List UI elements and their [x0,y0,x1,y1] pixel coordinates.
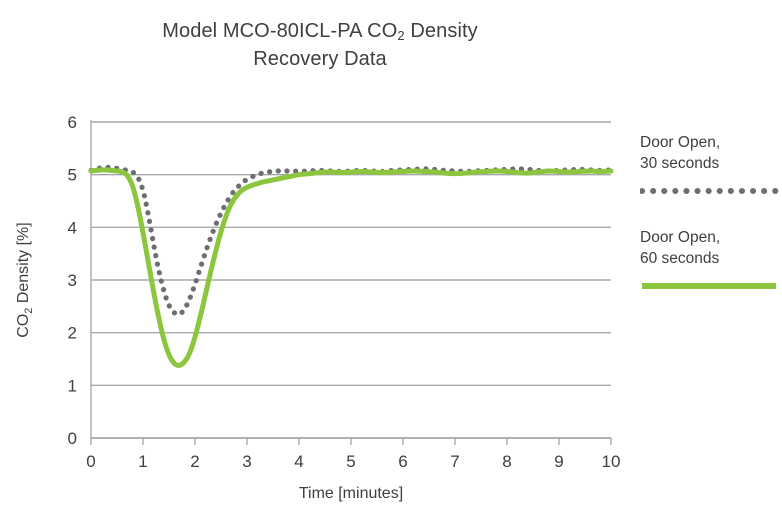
x-tick-label-7: 7 [450,452,459,471]
series-line-door-open-60 [91,170,611,366]
legend-label-door-open-60: Door Open, 60 seconds [640,227,782,269]
legend-swatch-solid [640,280,782,292]
y-tick-label-2: 2 [68,324,77,343]
series-line-door-open-30 [91,167,611,314]
x-axis-tick-labels: 012345678910 [86,452,620,471]
x-axis-title: Time [minutes] [299,485,403,502]
gridlines [91,122,611,438]
x-tick-label-2: 2 [190,452,199,471]
axis-titles: Time [minutes]CO2 Density [%] [15,222,403,502]
y-tick-label-3: 3 [68,271,77,290]
y-axis-tick-labels: 0123456 [68,113,77,448]
x-tick-label-0: 0 [86,452,95,471]
data-series [91,167,611,365]
legend-entry-door-open-30[interactable]: Door Open, 30 seconds [640,132,782,197]
x-tick-label-5: 5 [346,452,355,471]
x-tick-label-9: 9 [554,452,563,471]
legend: Door Open, 30 seconds Door Open, 60 seco… [640,132,782,322]
y-tick-label-4: 4 [68,218,77,237]
x-tick-label-6: 6 [398,452,407,471]
y-tick-label-6: 6 [68,113,77,132]
x-tick-label-1: 1 [138,452,147,471]
legend-swatch-dotted [640,185,782,197]
legend-label-line-2: 30 seconds [640,153,782,174]
legend-entry-door-open-60[interactable]: Door Open, 60 seconds [640,227,782,292]
legend-label-line-1: Door Open, [640,132,782,153]
y-tick-label-1: 1 [68,376,77,395]
x-tick-label-8: 8 [502,452,511,471]
y-axis-title: CO2 Density [%] [15,222,35,337]
chart-figure: Model MCO-80ICL-PA CO2 Density Recovery … [0,0,782,521]
x-axis-ticks [91,438,611,445]
x-tick-label-10: 10 [602,452,621,471]
legend-label-line-2: 60 seconds [640,248,782,269]
y-tick-label-5: 5 [68,166,77,185]
y-tick-label-0: 0 [68,429,77,448]
x-tick-label-4: 4 [294,452,303,471]
legend-label-door-open-30: Door Open, 30 seconds [640,132,782,174]
legend-label-line-1: Door Open, [640,227,782,248]
x-tick-label-3: 3 [242,452,251,471]
